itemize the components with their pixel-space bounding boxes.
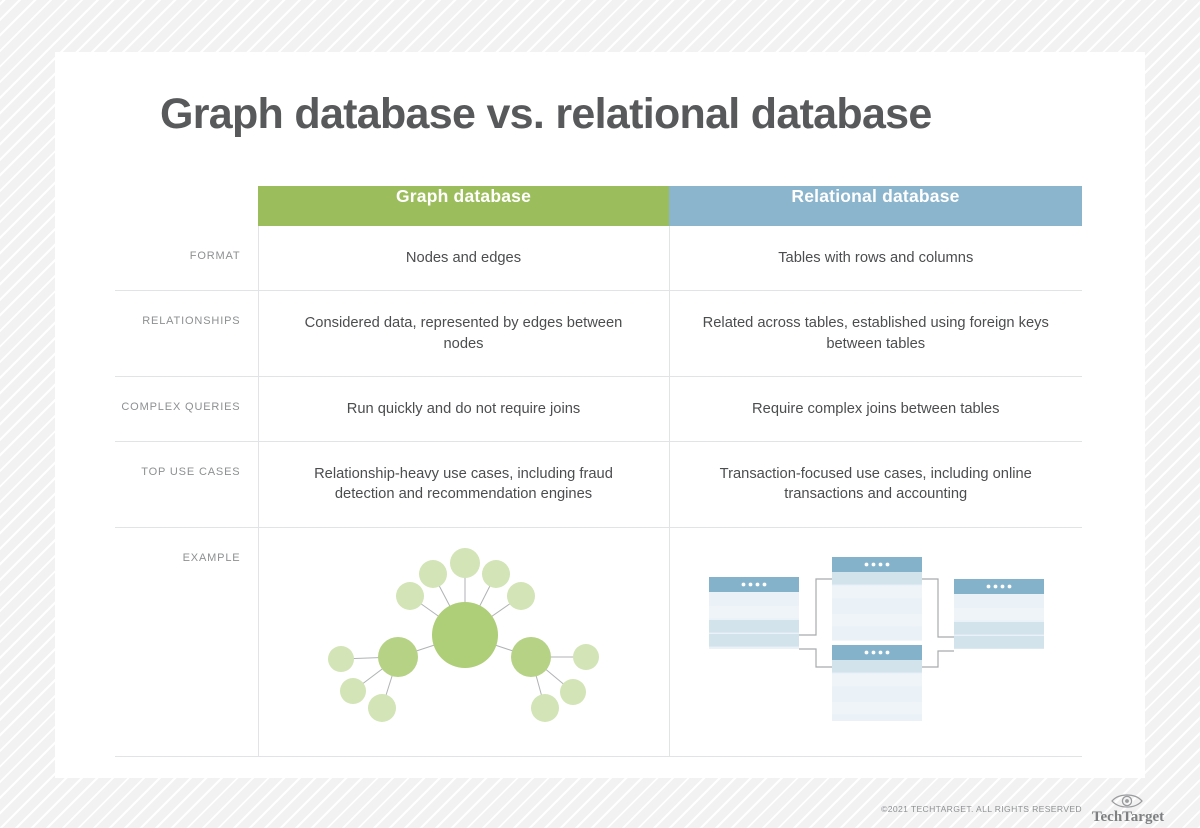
cell-format-relational: Tables with rows and columns: [669, 226, 1082, 291]
header-dot-icon: [864, 562, 868, 566]
table-card-row: [709, 620, 799, 633]
copyright-text: ©2021 TECHTARGET. ALL RIGHTS RESERVED: [881, 804, 1082, 814]
techtarget-wordmark: TechTarget: [1092, 809, 1164, 825]
table-card-row: [954, 622, 1044, 635]
cell-format-graph: Nodes and edges: [258, 226, 669, 291]
header-dot-icon: [1000, 584, 1004, 588]
table-card-row: [954, 594, 1044, 607]
graph-node-leaf-r3: [531, 694, 559, 722]
header-graph-database: Graph database: [258, 186, 669, 226]
table-card-row: [832, 628, 922, 641]
row-label-example: EXAMPLE: [115, 527, 258, 756]
table-card-row: [709, 634, 799, 647]
table-card-row: [709, 592, 799, 605]
cell-example-relational: [669, 527, 1082, 756]
header-dot-icon: [1007, 584, 1011, 588]
header-dot-icon: [986, 584, 990, 588]
graph-node-leaf-l2: [340, 678, 366, 704]
table-connector: [922, 579, 954, 637]
table-card-row: [832, 688, 922, 701]
eye-pupil-icon: [1125, 799, 1129, 803]
graph-node-center: [432, 602, 498, 668]
table-row-relationships: RELATIONSHIPS Considered data, represent…: [115, 291, 1082, 377]
graph-node-leaf-r2: [560, 679, 586, 705]
header-relational-database: Relational database: [669, 186, 1082, 226]
header-dot-icon: [871, 562, 875, 566]
table-card-row: [709, 606, 799, 619]
table-card-row: [954, 608, 1044, 621]
graph-node-hub-left: [378, 637, 418, 677]
header-dot-icon: [748, 582, 752, 586]
table-card-header: [709, 577, 799, 592]
graph-node-leaf-c5: [507, 582, 535, 610]
graph-node-hub-right: [511, 637, 551, 677]
cell-complex-queries-graph: Run quickly and do not require joins: [258, 376, 669, 441]
graph-node-leaf-c3: [450, 548, 480, 578]
table-card-header: [954, 579, 1044, 594]
table-row-format: FORMAT Nodes and edges Tables with rows …: [115, 226, 1082, 291]
table-card-header: [832, 557, 922, 572]
row-label-complex-queries: COMPLEX QUERIES: [115, 376, 258, 441]
header-dot-icon: [755, 582, 759, 586]
techtarget-logo: TechTarget: [1086, 790, 1170, 828]
content-card: Graph database vs. relational database G…: [55, 52, 1145, 778]
table-card-row: [832, 572, 922, 585]
row-label-top-use-cases: TOP USE CASES: [115, 442, 258, 528]
header-label-spacer: [115, 186, 258, 226]
header-dot-icon: [878, 562, 882, 566]
table-card-row: [832, 660, 922, 673]
table-row-example: EXAMPLE: [115, 527, 1082, 756]
comparison-table: Graph database Relational database FORMA…: [115, 186, 1082, 757]
table-left: [709, 577, 799, 649]
row-label-relationships: RELATIONSHIPS: [115, 291, 258, 377]
table-top: [832, 557, 922, 641]
header-dot-icon: [741, 582, 745, 586]
header-dot-icon: [993, 584, 997, 588]
graph-node-leaf-c1: [396, 582, 424, 610]
row-label-format: FORMAT: [115, 226, 258, 291]
header-dot-icon: [885, 562, 889, 566]
header-dot-icon: [878, 650, 882, 654]
header-dot-icon: [864, 650, 868, 654]
table-connector: [799, 579, 832, 635]
table-card-row: [832, 614, 922, 627]
table-card-row: [832, 702, 922, 715]
graph-node-leaf-c2: [419, 560, 447, 588]
table-right: [954, 579, 1044, 649]
graph-nodes: [328, 548, 599, 722]
table-card-row: [954, 636, 1044, 649]
graph-node-leaf-l3: [368, 694, 396, 722]
table-connector: [799, 649, 832, 667]
graph-diagram-svg: [259, 528, 670, 756]
table-card-row: [832, 674, 922, 687]
header-dot-icon: [762, 582, 766, 586]
cell-relationships-graph: Considered data, represented by edges be…: [258, 291, 669, 377]
relational-diagram-svg: [670, 528, 1083, 756]
relational-tables-diagram: [670, 528, 1083, 756]
table-card-header: [832, 645, 922, 660]
footer: ©2021 TECHTARGET. ALL RIGHTS RESERVED Te…: [0, 790, 1200, 828]
cell-top-use-cases-relational: Transaction-focused use cases, including…: [669, 442, 1082, 528]
table-card-row: [832, 586, 922, 599]
cell-example-graph: [258, 527, 669, 756]
table-connector: [922, 651, 954, 667]
table-row-complex-queries: COMPLEX QUERIES Run quickly and do not r…: [115, 376, 1082, 441]
header-dot-icon: [885, 650, 889, 654]
page-title: Graph database vs. relational database: [160, 90, 932, 139]
cell-complex-queries-relational: Require complex joins between tables: [669, 376, 1082, 441]
cell-top-use-cases-graph: Relationship-heavy use cases, including …: [258, 442, 669, 528]
cell-relationships-relational: Related across tables, established using…: [669, 291, 1082, 377]
graph-node-leaf-l1: [328, 646, 354, 672]
table-bottom: [832, 645, 922, 721]
graph-network-diagram: [259, 528, 669, 756]
table-row-top-use-cases: TOP USE CASES Relationship-heavy use cas…: [115, 442, 1082, 528]
graph-node-leaf-r1: [573, 644, 599, 670]
table-header-row: Graph database Relational database: [115, 186, 1082, 226]
table-card-row: [832, 600, 922, 613]
header-dot-icon: [871, 650, 875, 654]
graph-node-leaf-c4: [482, 560, 510, 588]
